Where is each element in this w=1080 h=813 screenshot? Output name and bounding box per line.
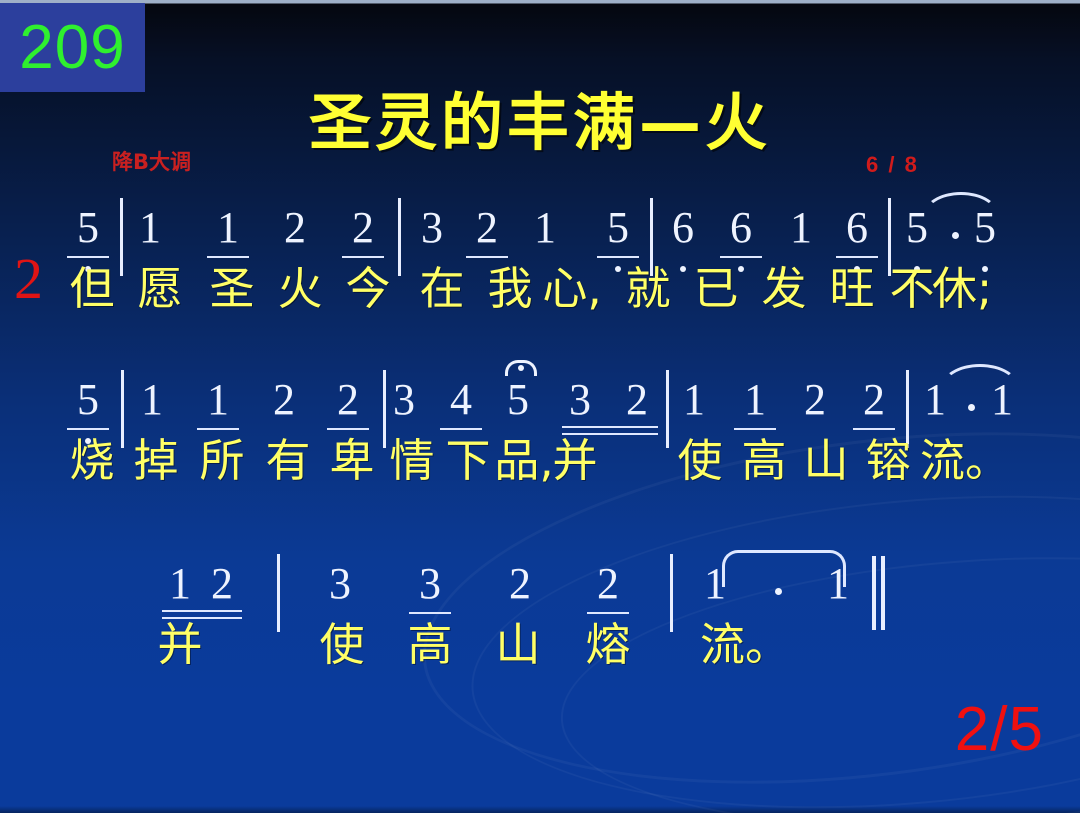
note-row: 511223215661655: [0, 196, 1080, 266]
note-2: 2: [346, 206, 380, 250]
note-2: 2: [470, 206, 504, 250]
lyric-syllable: 熔: [578, 622, 638, 667]
note-2: 2: [205, 562, 239, 606]
note-row: 5112234532112211: [0, 368, 1080, 438]
final-barline: [872, 556, 886, 630]
lyric-syllable: 卑: [322, 438, 382, 483]
note-5: 5: [501, 378, 535, 422]
slur-arc: [922, 192, 1000, 217]
system-3: 12332211并使高山熔流。: [0, 552, 1080, 684]
augmentation-dot: [775, 588, 782, 595]
lyric-syllable: 愿: [130, 266, 190, 311]
note-1: 1: [135, 378, 169, 422]
note-1: 1: [133, 206, 167, 250]
lyric-syllable: 使: [312, 622, 372, 667]
system-2: 5112234532112211烧掉所有卑情下品,并使高山镕流。: [0, 368, 1080, 500]
beam-underline: [836, 256, 878, 258]
beam-underline: [440, 428, 482, 430]
lyric-row: 并使高山熔流。: [0, 622, 1080, 684]
note-2: 2: [591, 562, 625, 606]
note-3: 3: [413, 562, 447, 606]
system-1: 511223215661655但愿圣火今在我心,就已发旺不休;: [0, 196, 1080, 328]
note-2: 2: [267, 378, 301, 422]
lyric-syllable: 有: [258, 438, 318, 483]
lyric-syllable: 下: [438, 438, 498, 483]
lyric-syllable: 但: [62, 266, 122, 311]
hymn-number-text: 209: [19, 17, 125, 79]
lyric-syllable: 我: [480, 266, 540, 311]
lyric-syllable: 流。: [920, 438, 980, 483]
lyric-syllable: 流。: [700, 622, 760, 667]
beam-group-line: [562, 426, 658, 428]
beam-underline: [409, 612, 451, 614]
note-1: 1: [677, 378, 711, 422]
note-4: 4: [444, 378, 478, 422]
note-5: 5: [71, 206, 105, 250]
lyric-syllable: 所: [192, 438, 252, 483]
note-6: 6: [724, 206, 758, 250]
note-1: 1: [211, 206, 245, 250]
page-counter: 2/5: [955, 699, 1044, 761]
lyric-syllable: 并: [150, 622, 210, 667]
note-2: 2: [278, 206, 312, 250]
beam-underline: [466, 256, 508, 258]
note-3: 3: [563, 378, 597, 422]
key-signature-label: 降B大调: [112, 146, 191, 176]
lyric-syllable: 已: [686, 266, 746, 311]
lyric-syllable: 山: [488, 622, 548, 667]
note-3: 3: [323, 562, 357, 606]
note-2: 2: [798, 378, 832, 422]
lyric-syllable: 在: [412, 266, 472, 311]
lyric-syllable: 旺: [822, 266, 882, 311]
note-row: 12332211: [0, 552, 1080, 622]
note-3: 3: [415, 206, 449, 250]
time-signature-label: 6 / 8: [866, 152, 919, 178]
slur-bracket: [722, 550, 846, 587]
barline: [121, 370, 124, 448]
note-1: 1: [201, 378, 235, 422]
note-3: 3: [387, 378, 421, 422]
augmentation-dot: [952, 232, 959, 239]
barline: [277, 554, 280, 632]
note-6: 6: [666, 206, 700, 250]
barline: [666, 370, 669, 448]
beam-underline: [207, 256, 249, 258]
lyric-syllable: 圣: [202, 266, 262, 311]
note-2: 2: [857, 378, 891, 422]
fermata-icon: [505, 360, 537, 376]
lyric-syllable: 并: [545, 438, 605, 483]
note-1: 1: [528, 206, 562, 250]
beam-underline: [853, 428, 895, 430]
lyric-syllable: 山: [796, 438, 856, 483]
beam-underline: [597, 256, 639, 258]
barline: [383, 370, 386, 448]
lyric-syllable: 掉: [126, 438, 186, 483]
barline: [120, 198, 123, 276]
barline: [398, 198, 401, 276]
note-5: 5: [71, 378, 105, 422]
lyric-syllable: 心,: [542, 266, 602, 311]
lyric-syllable: 情: [382, 438, 442, 483]
beam-underline: [587, 612, 629, 614]
note-5: 5: [601, 206, 635, 250]
note-1: 1: [784, 206, 818, 250]
note-2: 2: [331, 378, 365, 422]
beam-underline: [67, 428, 109, 430]
note-2: 2: [503, 562, 537, 606]
beam-underline: [197, 428, 239, 430]
note-1: 1: [163, 562, 197, 606]
beam-group-line: [162, 610, 242, 612]
lyric-syllable: 休;: [932, 266, 992, 311]
beam-underline: [720, 256, 762, 258]
barline: [670, 554, 673, 632]
lyric-syllable: 就: [618, 266, 678, 311]
augmentation-dot: [968, 404, 975, 411]
note-6: 6: [840, 206, 874, 250]
lyric-syllable: 镕: [858, 438, 918, 483]
lyric-row: 烧掉所有卑情下品,并使高山镕流。: [0, 438, 1080, 500]
lyric-syllable: 高: [734, 438, 794, 483]
lyric-syllable: 高: [400, 622, 460, 667]
slur-arc: [940, 364, 1020, 389]
note-1: 1: [738, 378, 772, 422]
lyric-syllable: 今: [338, 266, 398, 311]
lyric-syllable: 火: [270, 266, 330, 311]
lyric-syllable: 使: [670, 438, 730, 483]
beam-underline: [342, 256, 384, 258]
beam-underline: [327, 428, 369, 430]
lyric-syllable: 烧: [62, 438, 122, 483]
lyric-syllable: 发: [754, 266, 814, 311]
beam-underline: [67, 256, 109, 258]
beam-underline: [734, 428, 776, 430]
lyric-row: 但愿圣火今在我心,就已发旺不休;: [0, 266, 1080, 328]
note-2: 2: [620, 378, 654, 422]
slide-canvas: 209 圣灵的丰满—火 降B大调 6 / 8 2 2/5 51122321566…: [0, 0, 1080, 813]
